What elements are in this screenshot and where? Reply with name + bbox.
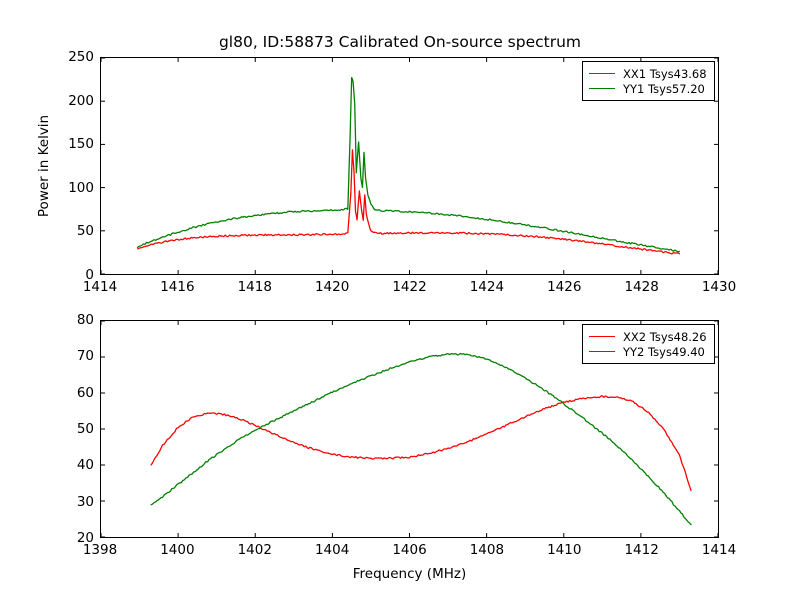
figure-title: gl80, ID:58873 Calibrated On-source spec…	[0, 33, 800, 51]
ytick-label: 60	[46, 385, 94, 401]
series-line	[151, 353, 691, 524]
ytick-label: 20	[46, 530, 94, 546]
ytick-label: 50	[46, 223, 94, 239]
xtick-label: 1420	[315, 279, 349, 295]
legend-color-swatch	[589, 88, 615, 89]
xtick-label: 1418	[238, 279, 272, 295]
legend-entry: YY1 Tsys57.20	[589, 81, 707, 96]
xtick-label: 1428	[624, 279, 658, 295]
ytick-label: 30	[46, 494, 94, 510]
bottom-panel-legend: XX2 Tsys48.26YY2 Tsys49.40	[582, 324, 715, 364]
legend-color-swatch	[589, 336, 615, 337]
xtick-label: 1408	[470, 542, 504, 558]
legend-label: YY1 Tsys57.20	[623, 82, 705, 96]
legend-color-swatch	[589, 351, 615, 352]
legend-entry: XX2 Tsys48.26	[589, 329, 707, 344]
legend-entry: YY2 Tsys49.40	[589, 344, 707, 359]
xtick-label: 1426	[547, 279, 581, 295]
figure-canvas: gl80, ID:58873 Calibrated On-source spec…	[0, 0, 800, 600]
figure-xlabel: Frequency (MHz)	[100, 566, 719, 582]
ytick-label: 40	[46, 457, 94, 473]
xtick-label: 1416	[160, 279, 194, 295]
legend-label: XX2 Tsys48.26	[623, 330, 707, 344]
xtick-label: 1430	[702, 279, 736, 295]
ytick-label: 200	[46, 93, 94, 109]
ytick-label: 70	[46, 348, 94, 364]
series-line	[138, 78, 680, 252]
xtick-label: 1404	[315, 542, 349, 558]
ytick-label: 100	[46, 180, 94, 196]
ytick-label: 250	[46, 49, 94, 65]
ytick-label: 50	[46, 421, 94, 437]
top-panel-legend: XX1 Tsys43.68YY1 Tsys57.20	[582, 61, 715, 101]
xtick-label: 1412	[624, 542, 658, 558]
xtick-label: 1414	[702, 542, 736, 558]
xtick-label: 1406	[392, 542, 426, 558]
legend-entry: XX1 Tsys43.68	[589, 66, 707, 81]
ytick-label: 80	[46, 312, 94, 328]
ytick-label: 150	[46, 136, 94, 152]
legend-color-swatch	[589, 73, 615, 74]
ytick-label: 0	[46, 267, 94, 283]
xtick-label: 1402	[238, 542, 272, 558]
xtick-label: 1424	[470, 279, 504, 295]
series-line	[151, 396, 691, 491]
top-panel-ylabel: Power in Kelvin	[36, 115, 52, 217]
legend-label: XX1 Tsys43.68	[623, 67, 707, 81]
xtick-label: 1422	[392, 279, 426, 295]
xtick-label: 1400	[160, 542, 194, 558]
xtick-label: 1410	[547, 542, 581, 558]
legend-label: YY2 Tsys49.40	[623, 345, 705, 359]
